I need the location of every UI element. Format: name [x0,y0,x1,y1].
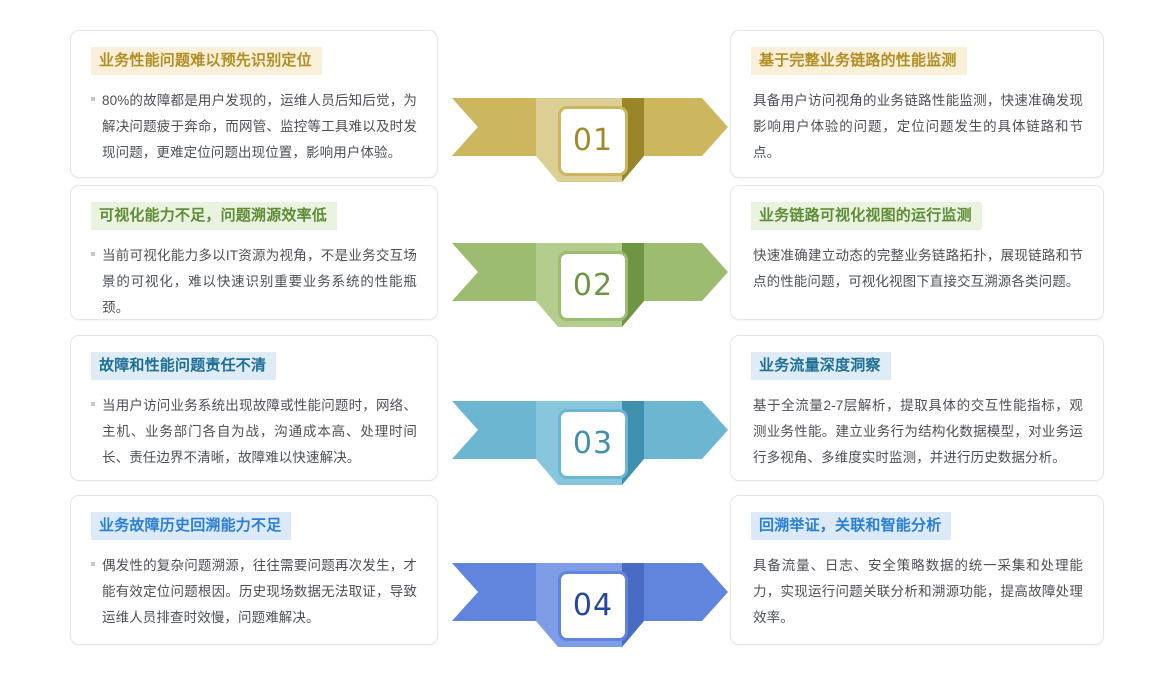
pain-point-title-04: 业务故障历史回溯能力不足 [91,512,291,540]
comparison-row-03: 故障和性能问题责任不清 当用户访问业务系统出现故障或性能问题时，网络、主机、业务… [0,335,1174,485]
bullet-marker-icon [91,243,102,321]
capability-body-03: 基于全流量2-7层解析，提取具体的交互性能指标，观测业务性能。建立业务行为结构化… [751,393,1083,471]
ribbon-connector-01: 01 [452,82,728,186]
ribbon-center-left-fold-03 [536,401,558,485]
ribbon-number-label-04: 04 [573,591,613,621]
ribbon-center-left-fold-02 [536,243,558,327]
ribbon-left-bar-02 [452,243,536,301]
capability-text-03: 基于全流量2-7层解析，提取具体的交互性能指标，观测业务性能。建立业务行为结构化… [751,393,1083,471]
ribbon-number-label-01: 01 [573,126,613,156]
ribbon-center-left-fold-01 [536,98,558,182]
capability-text-02: 快速准确建立动态的完整业务链路拓扑，展现链路和节点的性能问题，可视化视图下直接交… [751,243,1083,295]
pain-point-card-01[interactable]: 业务性能问题难以预先识别定位 80%的故障都是用户发现的，运维人员后知后觉，为解… [70,30,438,178]
pain-point-text-02: 当前可视化能力多以IT资源为视角，不是业务交互场景的可视化，难以快速识别重要业务… [102,243,417,321]
capability-title-02: 业务链路可视化视图的运行监测 [751,202,982,230]
pain-point-title-02: 可视化能力不足，问题溯源效率低 [91,202,337,230]
capability-title-01: 基于完整业务链路的性能监测 [751,47,967,75]
ribbon-connector-04: 04 [452,547,728,651]
capability-card-01[interactable]: 基于完整业务链路的性能监测 具备用户访问视角的业务链路性能监测，快速准确发现影响… [730,30,1104,178]
capability-card-04[interactable]: 回溯举证，关联和智能分析 具备流量、日志、安全策略数据的统一采集和处理能力，实现… [730,495,1104,645]
bullet-marker-icon [91,553,102,631]
pain-point-text-03: 当用户访问业务系统出现故障或性能问题时，网络、主机、业务部门各自为战，沟通成本高… [102,393,417,471]
capability-title-04: 回溯举证，关联和智能分析 [751,512,951,540]
capability-title-03: 业务流量深度洞察 [751,352,891,380]
ribbon-number-badge-02: 02 [558,251,628,321]
ribbon-right-arrow-02 [644,243,728,301]
ribbon-left-bar-flat-01 [452,98,536,156]
pain-point-card-03[interactable]: 故障和性能问题责任不清 当用户访问业务系统出现故障或性能问题时，网络、主机、业务… [70,335,438,481]
capability-text-01: 具备用户访问视角的业务链路性能监测，快速准确发现影响用户体验的问题，定位问题发生… [751,88,1083,166]
capability-body-02: 快速准确建立动态的完整业务链路拓扑，展现链路和节点的性能问题，可视化视图下直接交… [751,243,1083,295]
ribbon-right-arrow-01 [644,98,728,156]
comparison-row-02: 可视化能力不足，问题溯源效率低 当前可视化能力多以IT资源为视角，不是业务交互场… [0,185,1174,325]
pain-point-text-01: 80%的故障都是用户发现的，运维人员后知后觉，为解决问题疲于奔命，而网管、监控等… [102,88,417,166]
ribbon-right-arrow-04 [644,563,728,621]
ribbon-connector-03: 03 [452,385,728,489]
ribbon-number-label-03: 03 [573,429,613,459]
capability-text-04: 具备流量、日志、安全策略数据的统一采集和处理能力，实现运行问题关联分析和溯源功能… [751,553,1083,631]
ribbon-left-bar-04 [452,563,536,621]
comparison-row-01: 业务性能问题难以预先识别定位 80%的故障都是用户发现的，运维人员后知后觉，为解… [0,30,1174,180]
capability-body-04: 具备流量、日志、安全策略数据的统一采集和处理能力，实现运行问题关联分析和溯源功能… [751,553,1083,631]
ribbon-left-bar-03 [452,401,536,459]
pain-point-title-03: 故障和性能问题责任不清 [91,352,276,380]
ribbon-right-arrow-03 [644,401,728,459]
bullet-marker-icon [91,393,102,471]
ribbon-connector-02: 02 [452,227,728,331]
ribbon-number-badge-01: 01 [558,106,628,176]
ribbon-number-badge-03: 03 [558,409,628,479]
comparison-board: 业务性能问题难以预先识别定位 80%的故障都是用户发现的，运维人员后知后觉，为解… [0,0,1174,674]
capability-card-03[interactable]: 业务流量深度洞察 基于全流量2-7层解析，提取具体的交互性能指标，观测业务性能。… [730,335,1104,481]
comparison-row-04: 业务故障历史回溯能力不足 偶发性的复杂问题溯源，往往需要问题再次发生，才能有效定… [0,495,1174,650]
pain-point-body-02: 当前可视化能力多以IT资源为视角，不是业务交互场景的可视化，难以快速识别重要业务… [91,243,417,321]
capability-card-02[interactable]: 业务链路可视化视图的运行监测 快速准确建立动态的完整业务链路拓扑，展现链路和节点… [730,185,1104,320]
capability-body-01: 具备用户访问视角的业务链路性能监测，快速准确发现影响用户体验的问题，定位问题发生… [751,88,1083,166]
pain-point-body-03: 当用户访问业务系统出现故障或性能问题时，网络、主机、业务部门各自为战，沟通成本高… [91,393,417,471]
pain-point-title-01: 业务性能问题难以预先识别定位 [91,47,322,75]
pain-point-body-01: 80%的故障都是用户发现的，运维人员后知后觉，为解决问题疲于奔命，而网管、监控等… [91,88,417,166]
bullet-marker-icon [91,88,102,166]
pain-point-text-04: 偶发性的复杂问题溯源，往往需要问题再次发生，才能有效定位问题根因。历史现场数据无… [102,553,417,631]
ribbon-center-left-fold-04 [536,563,558,647]
ribbon-number-badge-04: 04 [558,571,628,641]
pain-point-body-04: 偶发性的复杂问题溯源，往往需要问题再次发生，才能有效定位问题根因。历史现场数据无… [91,553,417,631]
ribbon-number-label-02: 02 [573,271,613,301]
pain-point-card-02[interactable]: 可视化能力不足，问题溯源效率低 当前可视化能力多以IT资源为视角，不是业务交互场… [70,185,438,320]
pain-point-card-04[interactable]: 业务故障历史回溯能力不足 偶发性的复杂问题溯源，往往需要问题再次发生，才能有效定… [70,495,438,645]
